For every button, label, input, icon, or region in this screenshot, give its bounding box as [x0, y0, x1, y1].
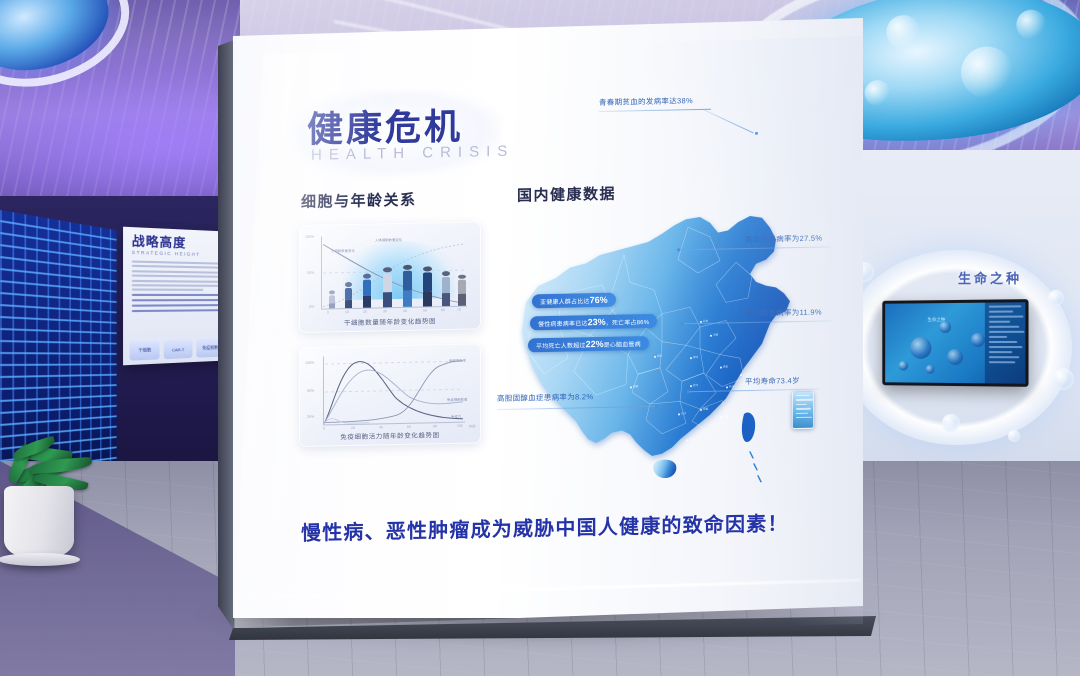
- pill-cardio-death: 平均死亡人数超过22%是心脑血管病: [528, 336, 649, 352]
- callout-anemia: 青春期贫血的发病率达38%: [599, 95, 693, 108]
- chart2-legend-cellcount: 免疫细胞数量: [447, 397, 467, 402]
- exhibition-hall-photo: 战略高度 STRATEGIC HEIGHT 干细胞 CAR-T 免疫细胞 生命之…: [0, 0, 1080, 676]
- callout-hypertension: 高血压患病率为27.5%: [745, 233, 822, 246]
- callout-cholesterol: 高胆固醇血症患病率为8.2%: [497, 391, 593, 404]
- screen-caption: 生命之种: [928, 317, 946, 323]
- section-heading-cell-age: 细胞与年龄关系: [301, 189, 417, 212]
- chart-card-stemcell: 100% 50% 0% 人体细胞数量变化 干细胞数量变化: [299, 221, 481, 333]
- callout-diabetes: 糖尿病患病率为11.9%: [745, 307, 822, 320]
- map-phone-mock: [792, 391, 814, 429]
- curved-display-wall: 健康危机 HEALTH CRISIS 细胞与年龄关系 国内健康数据 100% 5…: [203, 18, 883, 643]
- plant-pot: [4, 486, 74, 558]
- pill-sub-health: 亚健康人群占比达76%: [532, 293, 616, 309]
- board-base: [221, 616, 876, 640]
- chart2-legend-tumor: 肿瘤发生率: [449, 358, 466, 363]
- panel-card-stemcell: 干细胞: [130, 340, 160, 360]
- plant-saucer: [0, 553, 80, 566]
- board-content: 健康危机 HEALTH CRISIS 细胞与年龄关系 国内健康数据 100% 5…: [249, 74, 849, 586]
- chart-card-immunity: 100% 50% 25% 肿瘤发生率 免疫细胞数量 免疫力: [299, 343, 481, 447]
- right-wall-title: 生命之种: [958, 268, 1022, 287]
- china-health-map: 北京 济南 郑州 西安 成都 武汉 南京 上海 杭州 南昌 长沙 福州 广州: [504, 200, 834, 497]
- panel-card-cart: CAR-T: [164, 339, 193, 359]
- board-left-edge: [218, 40, 234, 630]
- screen-side-text: [985, 302, 1026, 384]
- bottom-slogan: 慢性病、恶性肿瘤成为威胁中国人健康的致命因素！: [301, 507, 789, 546]
- section-heading-health-data: 国内健康数据: [517, 183, 616, 206]
- right-wall-screen[interactable]: 生命之种: [882, 299, 1028, 387]
- chart2-legend-immunity: 免疫力: [451, 414, 461, 419]
- callout-life-expectancy: 平均寿命73.4岁: [745, 375, 800, 387]
- pill-chronic-disease: 慢性病患病率已达23%，死亡率占86%: [530, 314, 657, 331]
